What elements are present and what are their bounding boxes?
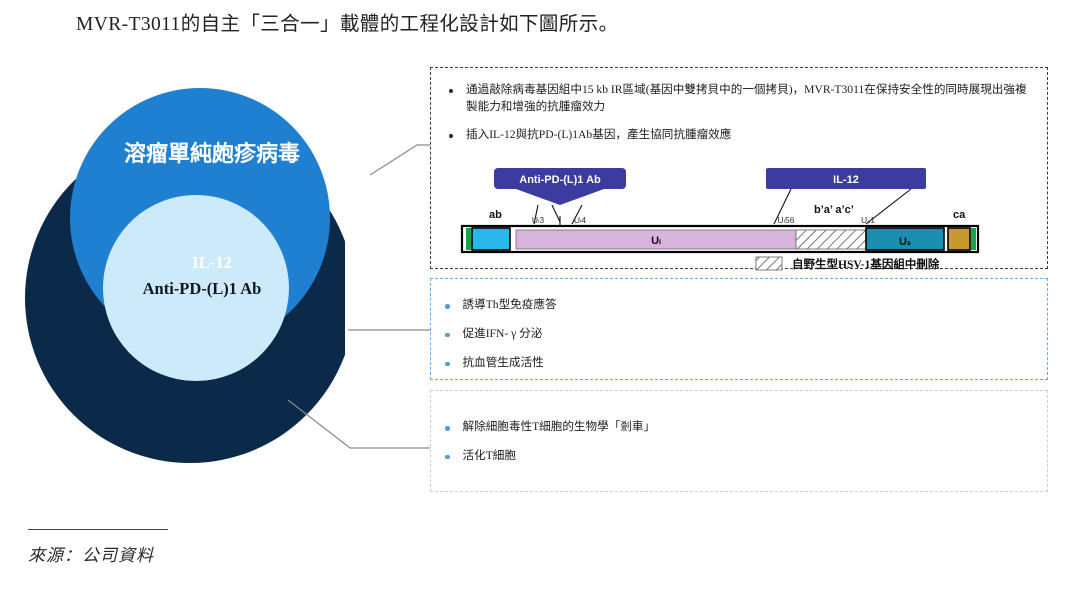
genome-segment-deleted (796, 230, 866, 249)
callout-anti-pd-l1: Anti-PD-(L)1 Ab (494, 168, 626, 205)
gene-label-ul56: Uₗ56 (777, 215, 794, 225)
footer-divider (28, 529, 168, 530)
bullet-item: 解除細胞毒性T細胞的生物學「剎車」 (445, 419, 1005, 436)
bullet-dot-icon (445, 362, 450, 367)
callout-label: Anti-PD-(L)1 Ab (519, 174, 601, 186)
bullet-text: 誘導Th型免疫應答 (463, 297, 1006, 314)
bullet-text: 通過敲除病毒基因組中15 kb IR區域(基因中雙拷貝中的一個拷貝)，MVR-T… (466, 82, 1037, 116)
genome-terminal-green-right (971, 228, 976, 250)
bullet-item: 通過敲除病毒基因組中15 kb IR區域(基因中雙拷貝中的一個拷貝)，MVR-T… (449, 82, 1037, 116)
callout-il12: IL-12 (766, 168, 926, 189)
bullet-item: 誘導Th型免疫應答 (445, 297, 1005, 314)
bullet-dot-icon (445, 426, 450, 431)
panel-anti-pd-l1-effects: 解除細胞毒性T細胞的生物學「剎車」 活化T細胞 (430, 390, 1048, 492)
gene-label-ul3: Uₗ3 (532, 215, 545, 225)
genome-terminal-green-left (466, 228, 471, 250)
bullet-item: 插入IL-12與抗PD-(L)1Ab基因，產生協同抗腫瘤效應 (449, 127, 1037, 144)
bullet-text: 促進IFN- γ 分泌 (463, 326, 1006, 343)
panel-virus-engineering: 通過敲除病毒基因組中15 kb IR區域(基因中雙拷貝中的一個拷貝)，MVR-T… (430, 67, 1048, 269)
bullet-dot-icon (449, 89, 453, 93)
legend-label: 自野生型HSV-1基因組中刪除 (792, 257, 940, 271)
genome-segment-ca (948, 228, 970, 250)
legend-hatch-swatch (756, 257, 782, 270)
slide-root: MVR-T3011的自主「三合一」載體的工程化設計如下圖所示。 溶瘤單純皰疹病毒… (0, 0, 1080, 595)
gene-label-us1: Uₛ1 (861, 215, 875, 225)
segment-label-ab: ab (489, 209, 502, 221)
bullet-dot-icon (445, 304, 450, 309)
bullet-item: 活化T細胞 (445, 448, 1005, 465)
gene-label-ul4: Uₗ4 (574, 215, 587, 225)
callout-label: IL-12 (833, 174, 859, 186)
gene-map-diagram: Anti-PD-(L)1 Ab IL-12 ab b’a’ a’c’ ca (456, 164, 996, 272)
bullet-item: 抗血管生成活性 (445, 355, 1005, 372)
inner-circle-label: Anti-PD-(L)1 Ab (143, 279, 262, 298)
bullet-dot-icon (445, 333, 450, 338)
bullet-dot-icon (449, 134, 453, 138)
bullet-dot-icon (445, 455, 450, 460)
genome-segment-ab (472, 228, 510, 250)
panel2-bullet-list: 誘導Th型免疫應答 促進IFN- γ 分泌 抗血管生成活性 (445, 297, 1005, 383)
panel1-bullet-list: 通過敲除病毒基因組中15 kb IR區域(基因中雙拷貝中的一個拷貝)，MVR-T… (449, 82, 1037, 154)
callout-pointer (552, 205, 560, 222)
panel3-bullet-list: 解除細胞毒性T細胞的生物學「剎車」 活化T細胞 (445, 419, 1005, 477)
bullet-text: 插入IL-12與抗PD-(L)1Ab基因，產生協同抗腫瘤效應 (466, 127, 1037, 144)
segment-label-repeat: b’a’ a’c’ (814, 204, 854, 216)
segment-label-ca: ca (953, 209, 966, 221)
page-title: MVR-T3011的自主「三合一」載體的工程化設計如下圖所示。 (76, 7, 619, 36)
source-note: 來源：公司資料 (28, 541, 154, 566)
concentric-circles-diagram: 溶瘤單純皰疹病毒 IL-12 Anti-PD-(L)1 Ab (0, 88, 400, 508)
bullet-text: 活化T細胞 (463, 448, 1006, 465)
genome-segment-us-label: Uₛ (899, 236, 911, 248)
outer-circle-label: 溶瘤單純皰疹病毒 (124, 141, 300, 166)
genome-segment-ul-label: Uₗ (651, 235, 661, 247)
bullet-item: 促進IFN- γ 分泌 (445, 326, 1005, 343)
panel-il12-effects: 誘導Th型免疫應答 促進IFN- γ 分泌 抗血管生成活性 (430, 278, 1048, 380)
bullet-text: 抗血管生成活性 (463, 355, 1006, 372)
bullet-text: 解除細胞毒性T細胞的生物學「剎車」 (463, 419, 1006, 436)
middle-circle-label: IL-12 (192, 253, 231, 272)
